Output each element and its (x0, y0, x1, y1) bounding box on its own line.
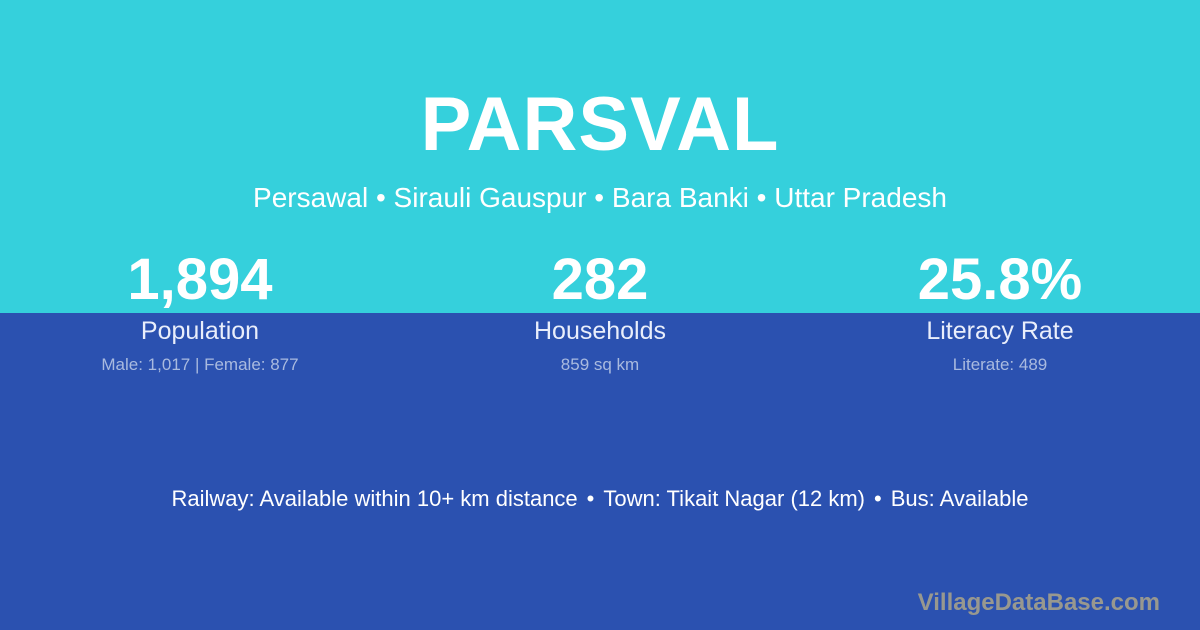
page-title: PARSVAL (0, 82, 1200, 168)
infra-town: Town: Tikait Nagar (12 km) (603, 486, 865, 511)
stat-literacy-rate-label: Literacy Rate (800, 316, 1200, 346)
site-brand-watermark: VillageDataBase.com (918, 588, 1160, 618)
stat-population-value: 1,894 (0, 248, 400, 312)
infra-railway: Railway: Available within 10+ km distanc… (171, 486, 577, 511)
stat-households: 282 Households 859 sq km (400, 248, 800, 376)
stat-population-detail: Male: 1,017 | Female: 877 (0, 354, 400, 376)
infra-bus: Bus: Available (891, 486, 1029, 511)
breadcrumb: Persawal • Sirauli Gauspur • Bara Banki … (0, 181, 1200, 215)
stat-population: 1,894 Population Male: 1,017 | Female: 8… (0, 248, 400, 376)
infra-separator-1: • (578, 484, 604, 514)
stats-row: 1,894 Population Male: 1,017 | Female: 8… (0, 248, 1200, 376)
stat-population-label: Population (0, 316, 400, 346)
infrastructure-line: Railway: Available within 10+ km distanc… (0, 484, 1200, 514)
stat-households-value: 282 (400, 248, 800, 312)
village-info-card: PARSVAL Persawal • Sirauli Gauspur • Bar… (0, 0, 1200, 630)
stat-literacy-rate: 25.8% Literacy Rate Literate: 489 (800, 248, 1200, 376)
stat-households-detail: 859 sq km (400, 354, 800, 376)
stat-literacy-rate-value: 25.8% (800, 248, 1200, 312)
card-header: PARSVAL Persawal • Sirauli Gauspur • Bar… (0, 0, 1200, 215)
stat-households-label: Households (400, 316, 800, 346)
infra-separator-2: • (865, 484, 891, 514)
stat-literacy-rate-detail: Literate: 489 (800, 354, 1200, 376)
